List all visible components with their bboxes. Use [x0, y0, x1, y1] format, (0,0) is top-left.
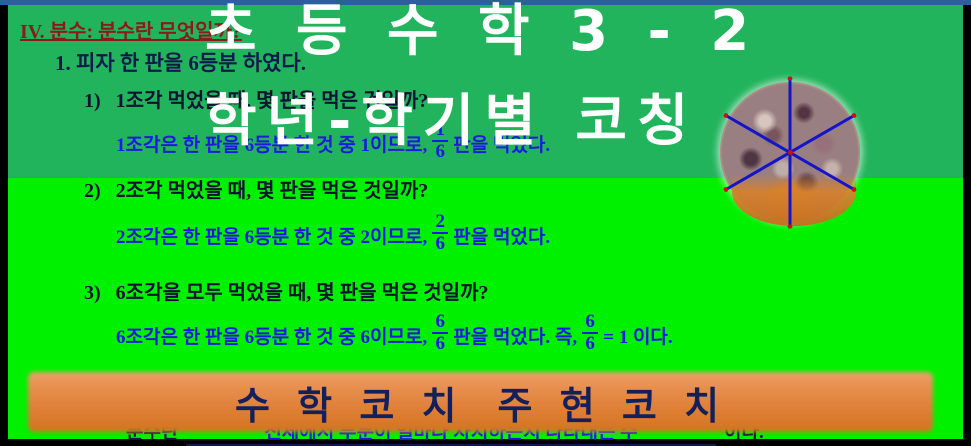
fraction-6-over-6-second: 6 6	[582, 313, 598, 353]
pizza-center-dot	[788, 150, 793, 155]
sub-question-2-text: 2조각 먹었을 때, 몇 판을 먹은 것일까?	[116, 180, 429, 202]
slide-canvas: IV. 분수: 분수란 무엇일까? 1. 피자 한 판을 6등분 하였다. 1)…	[0, 0, 971, 446]
fraction-numerator: 2	[435, 213, 445, 231]
fraction-6-over-6-first: 6 6	[432, 313, 448, 353]
sub-question-3-text: 6조각을 모두 먹었을 때, 몇 판을 먹은 것일까?	[116, 282, 489, 304]
answer-3-tail: = 1 이다.	[603, 322, 673, 349]
banner-left-label: 수 학 코 치	[235, 375, 464, 430]
answer-3: 6조각은 한 판을 6등분 한 것 중 6이므로, 6 6 판을 먹었다. 즉,…	[116, 315, 673, 355]
sub-question-3-number: 3)	[84, 282, 101, 304]
sub-question-3: 3) 6조각을 모두 먹었을 때, 몇 판을 먹은 것일까?	[84, 276, 488, 305]
fraction-denominator: 6	[435, 335, 445, 353]
sub-question-2: 2) 2조각 먹었을 때, 몇 판을 먹은 것일까?	[84, 174, 428, 203]
answer-3-before: 6조각은 한 판을 6등분 한 것 중 6이므로,	[116, 322, 427, 349]
fraction-denominator: 6	[585, 335, 595, 353]
fraction-denominator: 6	[435, 235, 445, 253]
watermark-title-line-1: 초 등 수 학 3 - 2	[205, 4, 759, 60]
banner-right-label: 주 현 코 치	[498, 375, 727, 430]
sub-question-2-number: 2)	[84, 180, 101, 202]
orange-banner-text: 수 학 코 치 주 현 코 치	[28, 372, 933, 432]
answer-2-before: 2조각은 한 판을 6등분 한 것 중 2이므로,	[116, 222, 427, 249]
fraction-2-over-6: 2 6	[432, 213, 448, 253]
pizza-diagram	[716, 78, 864, 226]
answer-3-after: 판을 먹었다. 즉,	[453, 322, 577, 349]
answer-2-after: 판을 먹었다.	[453, 222, 550, 249]
sub-question-1-number: 1)	[84, 90, 101, 112]
fraction-numerator: 6	[585, 313, 595, 331]
fraction-numerator: 6	[435, 313, 445, 331]
pizza-icon	[720, 82, 860, 222]
answer-2: 2조각은 한 판을 6등분 한 것 중 2이므로, 2 6 판을 먹었다.	[116, 215, 550, 255]
watermark-title-line-2: 학년-학기별 코칭	[205, 94, 698, 150]
